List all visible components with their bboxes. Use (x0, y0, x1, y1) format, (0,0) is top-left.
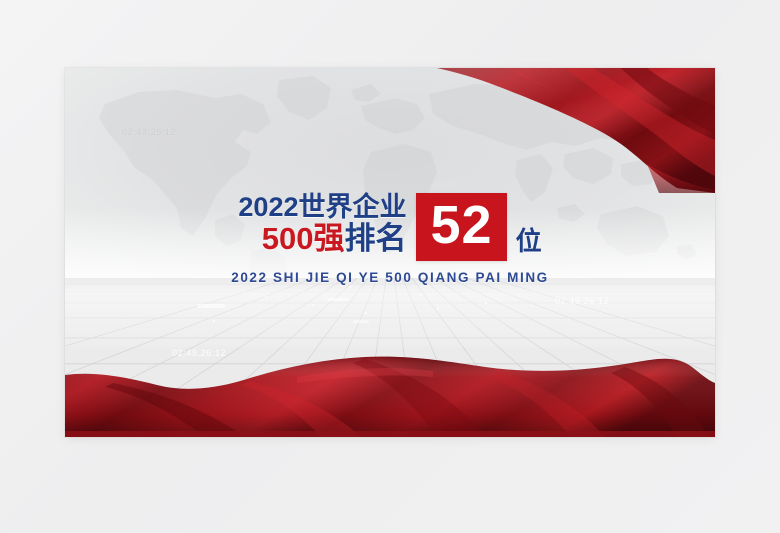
headline-block: 2022世界企业 500强排名 52 位 (65, 192, 715, 261)
subtitle-pinyin: 2022 SHI JIE QI YE 500 QIANG PAI MING (65, 270, 715, 285)
rank-unit-label: 位 (516, 221, 542, 261)
rank-number-badge: 52 (416, 193, 506, 261)
screenshot-canvas: 02:49,26:12 02:49,26:12 02:49,26:12 (0, 0, 780, 533)
video-frame: 02:49,26:12 02:49,26:12 02:49,26:12 (65, 68, 715, 437)
headline-rank-500: 500强 (262, 221, 345, 256)
headline-text-group: 2022世界企业 500强排名 (238, 192, 406, 255)
headline-line-2: 500强排名 (262, 223, 407, 256)
red-flag-top-right (415, 68, 715, 193)
rank-badge-group: 52 位 (416, 192, 541, 261)
headline-ranking-label: 排名 (344, 221, 406, 256)
red-silk-bottom (65, 353, 715, 437)
headline-line-1: 2022世界企业 (238, 194, 406, 222)
